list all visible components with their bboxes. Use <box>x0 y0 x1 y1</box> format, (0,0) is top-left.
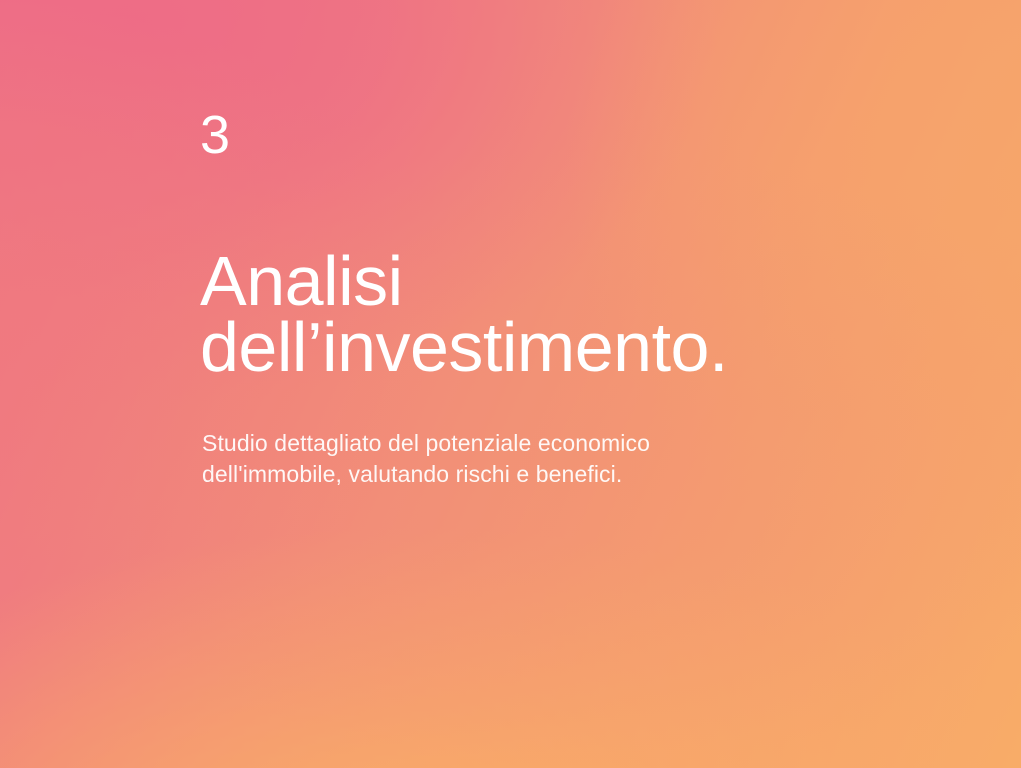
section-number: 3 <box>200 108 231 162</box>
presentation-slide: 3 Analisi dell’investimento. Studio dett… <box>0 0 1021 768</box>
slide-subtitle: Studio dettagliato del potenziale econom… <box>202 428 650 490</box>
slide-title: Analisi dell’investimento. <box>200 248 728 380</box>
slide-content: 3 Analisi dell’investimento. Studio dett… <box>200 0 960 768</box>
